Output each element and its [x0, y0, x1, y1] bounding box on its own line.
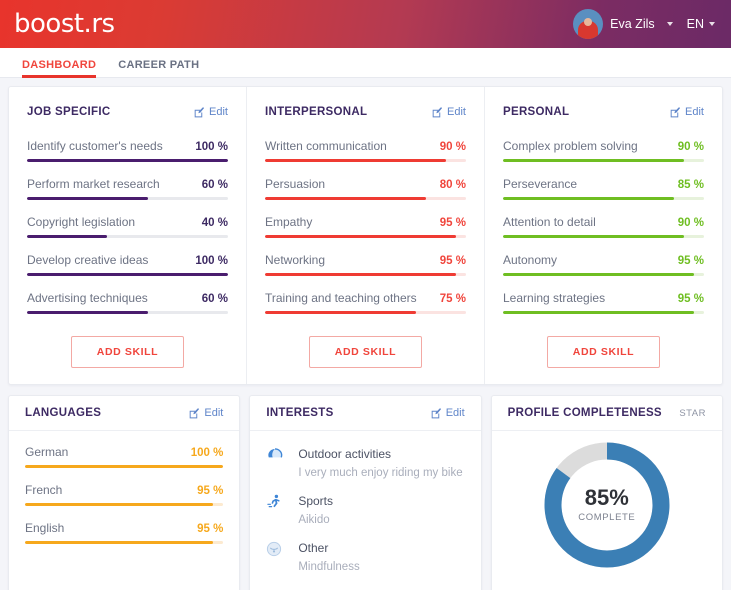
tab-dashboard[interactable]: DASHBOARD	[22, 59, 96, 77]
interest-item: Outdoor activities I very much enjoy rid…	[266, 445, 464, 481]
skill-progress-bar	[503, 311, 704, 314]
edit-label: Edit	[685, 106, 704, 118]
skill-rows: Complex problem solving90 % Perseverance…	[503, 139, 704, 314]
skill-label: Networking	[265, 253, 325, 267]
skill-progress-fill	[503, 311, 694, 314]
skill-progress-fill	[265, 235, 456, 238]
chevron-down-icon	[667, 22, 673, 26]
skill-progress-bar	[27, 159, 228, 162]
add-skill-button[interactable]: ADD SKILL	[71, 336, 184, 368]
add-skill-wrap: ADD SKILL	[265, 336, 466, 368]
skills-card: JOB SPECIFIC Edit Identify customer's ne…	[8, 86, 723, 385]
profile-completeness-donut: 85% COMPLETE	[541, 439, 673, 571]
skill-progress-fill	[27, 197, 148, 200]
languages-body: German100 % French95 % English95 %	[9, 431, 239, 554]
skill-progress-fill	[265, 273, 456, 276]
skill-label: Written communication	[265, 139, 387, 153]
skill-column-job-specific: JOB SPECIFIC Edit Identify customer's ne…	[9, 87, 246, 384]
card-title: JOB SPECIFIC	[27, 106, 110, 118]
skill-row: Written communication90 %	[265, 139, 466, 162]
skill-progress-bar	[265, 273, 466, 276]
edit-button-interpersonal[interactable]: Edit	[432, 106, 466, 118]
skill-progress-fill	[265, 197, 426, 200]
dashboard-content: JOB SPECIFIC Edit Identify customer's ne…	[0, 78, 731, 590]
interests-card: INTERESTS Edit	[249, 395, 481, 590]
skill-label: Perseverance	[503, 177, 577, 191]
pencil-square-icon	[194, 107, 205, 118]
circle-other-icon	[266, 539, 286, 562]
skill-row: Persuasion80 %	[265, 177, 466, 200]
main-tabbar: DASHBOARD CAREER PATH	[0, 48, 731, 78]
skill-progress-bar	[503, 159, 704, 162]
skill-percent: 100 %	[195, 141, 228, 153]
skill-progress-bar	[265, 159, 466, 162]
skill-progress-bar	[27, 197, 228, 200]
skill-percent: 95 %	[440, 217, 466, 229]
skill-progress-bar	[503, 235, 704, 238]
skill-progress-fill	[27, 311, 148, 314]
skill-row: Attention to detail90 %	[503, 215, 704, 238]
skill-progress-bar	[265, 197, 466, 200]
add-skill-button[interactable]: ADD SKILL	[547, 336, 660, 368]
language-percent: 95 %	[197, 523, 223, 535]
running-person-icon	[266, 492, 286, 515]
skill-row: Complex problem solving90 %	[503, 139, 704, 162]
skill-label: Identify customer's needs	[27, 139, 163, 153]
interest-title: Other	[298, 541, 328, 555]
card-header: PERSONAL Edit	[503, 99, 704, 125]
edit-label: Edit	[446, 407, 465, 419]
header-right-group: Eva Zils EN	[573, 9, 715, 39]
skill-label: Training and teaching others	[265, 291, 417, 305]
skill-column-interpersonal: INTERPERSONAL Edit Written communication…	[246, 87, 484, 384]
language-progress-fill	[25, 503, 213, 506]
skill-percent: 75 %	[440, 293, 466, 305]
skill-percent: 90 %	[678, 217, 704, 229]
language-progress-fill	[25, 465, 223, 468]
avatar	[573, 9, 603, 39]
tab-career-path[interactable]: CAREER PATH	[118, 59, 199, 77]
app-header: boost.rs Eva Zils EN	[0, 0, 731, 48]
edit-button-personal[interactable]: Edit	[670, 106, 704, 118]
add-skill-wrap: ADD SKILL	[503, 336, 704, 368]
skill-row: Training and teaching others75 %	[265, 291, 466, 314]
skill-label: Attention to detail	[503, 215, 596, 229]
skill-row: Autonomy95 %	[503, 253, 704, 276]
skill-percent: 90 %	[678, 141, 704, 153]
donut-wrap: 85% COMPLETE	[492, 431, 722, 571]
skill-progress-bar	[27, 235, 228, 238]
status-badge: STAR	[679, 408, 706, 419]
card-header: INTERPERSONAL Edit	[265, 99, 466, 125]
interest-subtitle: Mindfulness	[298, 561, 359, 573]
interest-title: Sports	[298, 494, 333, 508]
card-title: PERSONAL	[503, 106, 569, 118]
pencil-square-icon	[670, 107, 681, 118]
skill-progress-fill	[265, 311, 416, 314]
skill-percent: 95 %	[678, 255, 704, 267]
skill-percent: 90 %	[440, 141, 466, 153]
skill-label: Learning strategies	[503, 291, 605, 305]
language-percent: 100 %	[191, 447, 224, 459]
skill-percent: 40 %	[202, 217, 228, 229]
bottom-row: LANGUAGES Edit German100 % French95 %	[8, 395, 723, 590]
language-progress-bar	[25, 503, 223, 506]
edit-label: Edit	[209, 106, 228, 118]
edit-button-languages[interactable]: Edit	[189, 407, 223, 419]
card-header: JOB SPECIFIC Edit	[27, 99, 228, 125]
interest-item: Other Mindfulness	[266, 539, 464, 575]
interest-subtitle: Aikido	[298, 514, 329, 526]
language-label: French	[25, 483, 62, 497]
skill-progress-fill	[27, 159, 228, 162]
language-row: English95 %	[25, 521, 223, 544]
card-title: PROFILE COMPLETENESS	[508, 407, 662, 419]
skill-percent: 60 %	[202, 179, 228, 191]
add-skill-wrap: ADD SKILL	[27, 336, 228, 368]
skill-label: Autonomy	[503, 253, 557, 267]
app-logo[interactable]: boost.rs	[14, 9, 115, 39]
language-label: EN	[687, 17, 704, 31]
skill-percent: 95 %	[678, 293, 704, 305]
skill-progress-bar	[503, 197, 704, 200]
skill-rows: Written communication90 % Persuasion80 %…	[265, 139, 466, 314]
skill-label: Complex problem solving	[503, 139, 638, 153]
skill-row: Advertising techniques60 %	[27, 291, 228, 314]
skill-row: Perseverance85 %	[503, 177, 704, 200]
skill-row: Networking95 %	[265, 253, 466, 276]
edit-button-job-specific[interactable]: Edit	[194, 106, 228, 118]
skill-progress-fill	[503, 197, 674, 200]
donut-percent: 85%	[585, 487, 629, 509]
skill-percent: 85 %	[678, 179, 704, 191]
language-row: French95 %	[25, 483, 223, 506]
language-percent: 95 %	[197, 485, 223, 497]
language-progress-bar	[25, 541, 223, 544]
skill-row: Empathy95 %	[265, 215, 466, 238]
language-progress-bar	[25, 465, 223, 468]
skill-progress-bar	[27, 273, 228, 276]
card-header: LANGUAGES Edit	[9, 396, 239, 431]
card-title: INTERPERSONAL	[265, 106, 367, 118]
user-menu[interactable]: Eva Zils	[573, 9, 672, 39]
chevron-down-icon	[709, 22, 715, 26]
skill-percent: 60 %	[202, 293, 228, 305]
skill-progress-bar	[27, 311, 228, 314]
skill-row: Identify customer's needs100 %	[27, 139, 228, 162]
pencil-square-icon	[431, 408, 442, 419]
add-skill-button[interactable]: ADD SKILL	[309, 336, 422, 368]
pencil-square-icon	[189, 408, 200, 419]
languages-card: LANGUAGES Edit German100 % French95 %	[8, 395, 240, 590]
interest-title: Outdoor activities	[298, 447, 391, 461]
skill-progress-fill	[265, 159, 446, 162]
donut-center: 85% COMPLETE	[541, 439, 673, 571]
profile-completeness-card: PROFILE COMPLETENESS STAR 85% COMPLETE	[491, 395, 723, 590]
language-row: German100 %	[25, 445, 223, 468]
skill-progress-fill	[27, 273, 228, 276]
card-header: PROFILE COMPLETENESS STAR	[492, 396, 722, 431]
donut-label: COMPLETE	[578, 512, 635, 523]
user-name: Eva Zils	[610, 17, 654, 31]
card-header: INTERESTS Edit	[250, 396, 480, 431]
skill-label: Empathy	[265, 215, 312, 229]
skill-progress-fill	[27, 235, 107, 238]
language-progress-fill	[25, 541, 213, 544]
card-title: LANGUAGES	[25, 407, 101, 419]
skill-row: Copyright legislation40 %	[27, 215, 228, 238]
skill-column-personal: PERSONAL Edit Complex problem solving90 …	[484, 87, 722, 384]
skill-label: Copyright legislation	[27, 215, 135, 229]
edit-label: Edit	[204, 407, 223, 419]
pencil-square-icon	[432, 107, 443, 118]
skill-row: Develop creative ideas100 %	[27, 253, 228, 276]
skill-label: Persuasion	[265, 177, 325, 191]
skill-progress-fill	[503, 235, 684, 238]
language-label: English	[25, 521, 64, 535]
language-label: German	[25, 445, 68, 459]
edit-button-interests[interactable]: Edit	[431, 407, 465, 419]
skill-rows: Identify customer's needs100 % Perform m…	[27, 139, 228, 314]
edit-label: Edit	[447, 106, 466, 118]
skill-label: Advertising techniques	[27, 291, 148, 305]
skill-row: Perform market research60 %	[27, 177, 228, 200]
skill-label: Develop creative ideas	[27, 253, 148, 267]
skill-progress-bar	[265, 311, 466, 314]
interest-subtitle: I very much enjoy riding my bike	[298, 467, 462, 479]
tent-icon	[266, 445, 286, 466]
skill-percent: 100 %	[195, 255, 228, 267]
language-selector[interactable]: EN	[687, 17, 715, 31]
skill-progress-fill	[503, 159, 684, 162]
interests-body: Outdoor activities I very much enjoy rid…	[250, 431, 480, 590]
skill-row: Learning strategies95 %	[503, 291, 704, 314]
skill-percent: 80 %	[440, 179, 466, 191]
skill-label: Perform market research	[27, 177, 160, 191]
skill-percent: 95 %	[440, 255, 466, 267]
card-title: INTERESTS	[266, 407, 333, 419]
interest-item: Sports Aikido	[266, 492, 464, 528]
skill-progress-bar	[265, 235, 466, 238]
skill-progress-bar	[503, 273, 704, 276]
skill-progress-fill	[503, 273, 694, 276]
